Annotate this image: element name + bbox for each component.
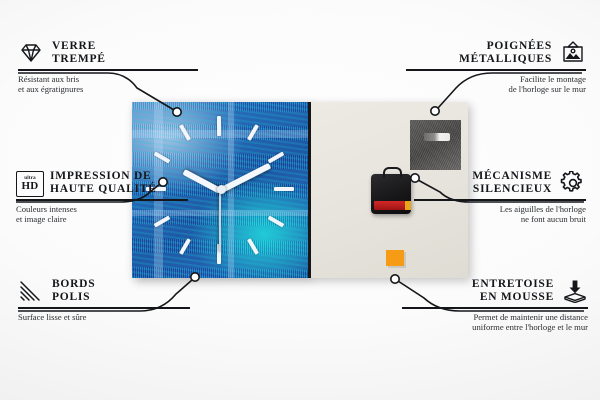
- clock-tick: [247, 124, 259, 141]
- callout-header: ultra HD IMPRESSION DE HAUTE QUALITÉ: [16, 170, 206, 196]
- hanger-plate: [410, 120, 461, 170]
- callout-subtitle: Résistant aux bris et aux égratignures: [18, 74, 208, 95]
- clock-tick: [179, 124, 191, 141]
- clock-tick: [217, 116, 221, 136]
- callout-bords-polis: BORDS POLIS Surface lisse et sûre: [18, 278, 208, 322]
- callout-title: VERRE TREMPÉ: [52, 40, 106, 66]
- clock-center-cap: [217, 185, 226, 194]
- diamond-icon: [18, 41, 44, 65]
- callout-subtitle: Facilite le montage de l'horloge sur le …: [396, 74, 586, 95]
- callout-title: MÉCANISME SILENCIEUX: [472, 170, 552, 196]
- hanger-slot: [424, 133, 450, 141]
- callout-poignees-metalliques: POIGNÉES MÉTALLIQUES Facilite le montage…: [396, 40, 586, 94]
- picture-hanging-icon: [560, 41, 586, 65]
- clock-tick: [247, 238, 259, 255]
- polished-edge-icon: [18, 279, 44, 303]
- clock-tick: [179, 238, 191, 255]
- callout-rule: [16, 199, 188, 201]
- foam-spacer: [386, 250, 404, 266]
- callout-subtitle: Couleurs intenses et image claire: [16, 204, 206, 225]
- callout-title: BORDS POLIS: [52, 278, 95, 304]
- callout-header: VERRE TREMPÉ: [18, 40, 208, 66]
- arrow-onto-layer-icon: [562, 279, 588, 303]
- callout-rule: [406, 69, 586, 71]
- clock-tick: [154, 152, 171, 164]
- callout-rule: [414, 199, 586, 201]
- clock-minute-hand: [219, 163, 272, 194]
- ultra-hd-badge: ultra HD: [16, 171, 44, 197]
- callout-header: POIGNÉES MÉTALLIQUES: [396, 40, 586, 66]
- callout-subtitle: Permet de maintenir une distance uniform…: [398, 312, 588, 333]
- callout-subtitle: Surface lisse et sûre: [18, 312, 208, 322]
- callout-title: ENTRETOISE EN MOUSSE: [472, 278, 554, 304]
- callout-header: BORDS POLIS: [18, 278, 208, 304]
- clock-tick: [268, 152, 285, 164]
- callout-entretoise-en-mousse: ENTRETOISE EN MOUSSE Permet de maintenir…: [398, 278, 588, 332]
- callout-impression: ultra HD IMPRESSION DE HAUTE QUALITÉ Cou…: [16, 170, 206, 224]
- callout-header: ENTRETOISE EN MOUSSE: [398, 278, 588, 304]
- clock-tick: [268, 216, 285, 228]
- callout-mecanisme-silencieux: MÉCANISME SILENCIEUX Les aiguilles de l'…: [396, 170, 586, 224]
- clock-second-hand: [219, 190, 221, 252]
- callout-rule: [18, 69, 198, 71]
- callout-title: IMPRESSION DE HAUTE QUALITÉ: [50, 170, 157, 196]
- callout-title: POIGNÉES MÉTALLIQUES: [459, 40, 552, 66]
- infographic-canvas: VERRE TREMPÉ Résistant aux bris et aux é…: [0, 0, 600, 400]
- callout-rule: [402, 307, 588, 309]
- ultra-hd-icon: ultra HD: [16, 171, 42, 195]
- clock-tick: [274, 187, 294, 191]
- callout-header: MÉCANISME SILENCIEUX: [396, 170, 586, 196]
- callout-subtitle: Les aiguilles de l'horloge ne font aucun…: [396, 204, 586, 225]
- ultra-hd-large-text: HD: [21, 181, 38, 192]
- callout-verre-trempe: VERRE TREMPÉ Résistant aux bris et aux é…: [18, 40, 208, 94]
- callout-rule: [18, 307, 190, 309]
- gear-icon: [560, 171, 586, 195]
